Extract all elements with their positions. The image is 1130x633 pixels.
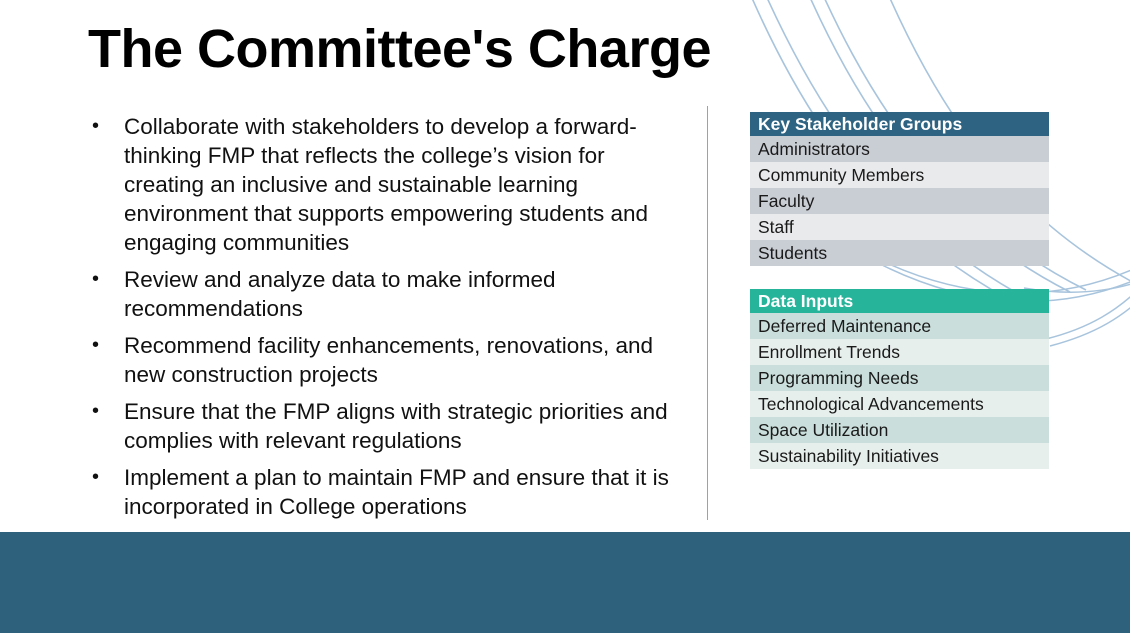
list-item-label: Review and analyze data to make informed… xyxy=(124,265,673,323)
key-stakeholder-groups-table: Key Stakeholder Groups Administrators Co… xyxy=(750,112,1049,266)
bullet-marker-icon: • xyxy=(92,112,108,141)
list-item-label: Ensure that the FMP aligns with strategi… xyxy=(124,397,673,455)
list-item-label: Recommend facility enhancements, renovat… xyxy=(124,331,673,389)
list-item-label: Collaborate with stakeholders to develop… xyxy=(124,112,673,257)
list-item: • Collaborate with stakeholders to devel… xyxy=(88,112,673,257)
table-row: Enrollment Trends xyxy=(750,339,1049,365)
list-item-label: Implement a plan to maintain FMP and ens… xyxy=(124,463,673,521)
table-header: Key Stakeholder Groups xyxy=(750,112,1049,136)
table-row: Programming Needs xyxy=(750,365,1049,391)
list-item: • Review and analyze data to make inform… xyxy=(88,265,673,323)
data-inputs-table: Data Inputs Deferred Maintenance Enrollm… xyxy=(750,289,1049,469)
bullet-marker-icon: • xyxy=(92,397,108,426)
table-row: Community Members xyxy=(750,162,1049,188)
page-title: The Committee's Charge xyxy=(88,18,711,80)
list-item: • Recommend facility enhancements, renov… xyxy=(88,331,673,389)
table-row: Space Utilization xyxy=(750,417,1049,443)
bullet-marker-icon: • xyxy=(92,463,108,492)
table-row: Administrators xyxy=(750,136,1049,162)
table-row: Technological Advancements xyxy=(750,391,1049,417)
list-item: • Implement a plan to maintain FMP and e… xyxy=(88,463,673,521)
table-row: Students xyxy=(750,240,1049,266)
table-row: Sustainability Initiatives xyxy=(750,443,1049,469)
table-row: Deferred Maintenance xyxy=(750,313,1049,339)
bullet-marker-icon: • xyxy=(92,265,108,294)
table-row: Faculty xyxy=(750,188,1049,214)
vertical-divider xyxy=(707,106,708,520)
list-item: • Ensure that the FMP aligns with strate… xyxy=(88,397,673,455)
table-header: Data Inputs xyxy=(750,289,1049,313)
footer-band: CENTRAL OREGON community college xyxy=(0,532,1130,633)
charge-bullet-list: • Collaborate with stakeholders to devel… xyxy=(88,112,673,521)
slide-canvas: The Committee's Charge • Collaborate wit… xyxy=(0,0,1130,633)
table-row: Staff xyxy=(750,214,1049,240)
bullet-marker-icon: • xyxy=(92,331,108,360)
